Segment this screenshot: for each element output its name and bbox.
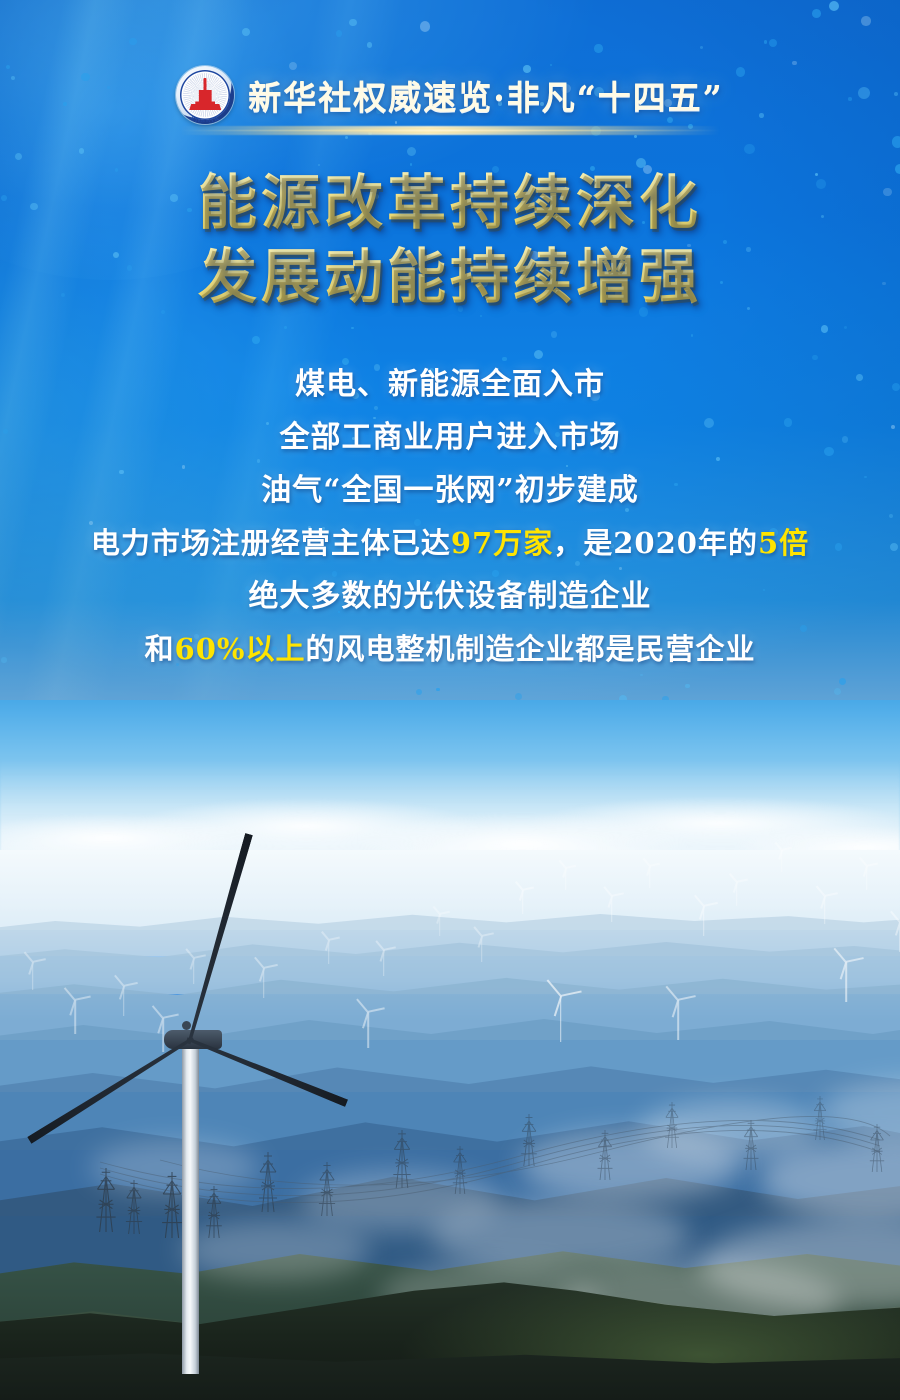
body-line-1: 煤电、新能源全面入市	[0, 358, 900, 411]
wind-turbine-distant	[726, 882, 748, 906]
xinhua-logo-icon: XINHUA	[176, 66, 234, 124]
header-bar: XINHUA 新华社权威速览·非凡“十四五”	[0, 62, 900, 128]
body-line-4-text-b: ，是2020年的	[553, 526, 758, 560]
wind-turbine-distant	[556, 868, 576, 890]
wind-turbine-distant	[470, 936, 493, 962]
wind-turbine-distant	[640, 866, 660, 888]
poster-root: XINHUA 新华社权威速览·非凡“十四五” 能源改革持续深化 发展动能持续增强…	[0, 0, 900, 1400]
wind-turbine-distant	[512, 890, 534, 914]
wind-turbine-distant	[20, 962, 45, 990]
wind-turbine-distant	[886, 922, 900, 952]
header-title: 新华社权威速览·非凡“十四五”	[248, 71, 723, 119]
wind-turbine-distant	[60, 1000, 91, 1034]
body-line-2: 全部工商业用户进入市场	[0, 411, 900, 464]
wind-turbine-distant	[828, 962, 864, 1002]
body-line-4-highlight-2: 5倍	[758, 526, 809, 560]
body-text-block: 煤电、新能源全面入市 全部工商业用户进入市场 油气“全国一张网”初步建成 电力市…	[0, 358, 900, 676]
wind-turbine-distant	[540, 996, 581, 1042]
headline-line-2: 发展动能持续增强	[0, 240, 900, 314]
body-line-3: 油气“全国一张网”初步建成	[0, 464, 900, 517]
headline-line-1: 能源改革持续深化	[0, 166, 900, 240]
body-line-5: 绝大多数的光伏设备制造企业	[0, 570, 900, 623]
xinhua-wordmark: XINHUA	[176, 100, 234, 122]
wind-turbine-distant	[812, 896, 837, 924]
body-line-6-text-a: 和	[145, 632, 175, 666]
body-line-6-text-b: 的风电整机制造企业都是民营企业	[305, 632, 755, 666]
body-line-6: 和60%以上的风电整机制造企业都是民营企业	[0, 623, 900, 676]
wind-turbine-distant	[772, 850, 792, 872]
wind-turbine-foreground	[120, 896, 460, 1376]
body-line-4-highlight-1: 97万家	[451, 526, 553, 560]
golden-divider	[180, 126, 720, 135]
svg-text:XINHUA: XINHUA	[188, 115, 222, 122]
turbine-hub	[182, 1021, 191, 1030]
body-line-4-text-a: 电力市场注册经营主体已达	[91, 526, 451, 560]
wind-farm-mountain-photo	[0, 700, 900, 1400]
wind-turbine-distant	[856, 866, 878, 890]
body-line-6-highlight-1: 60%以上	[175, 632, 306, 666]
turbine-tower	[182, 1044, 199, 1374]
wind-turbine-distant	[690, 906, 717, 936]
wind-turbine-distant	[660, 1000, 696, 1040]
wind-turbine-distant	[600, 896, 623, 922]
headline-block: 能源改革持续深化 发展动能持续增强	[0, 166, 900, 314]
body-line-4: 电力市场注册经营主体已达97万家，是2020年的5倍	[0, 517, 900, 570]
